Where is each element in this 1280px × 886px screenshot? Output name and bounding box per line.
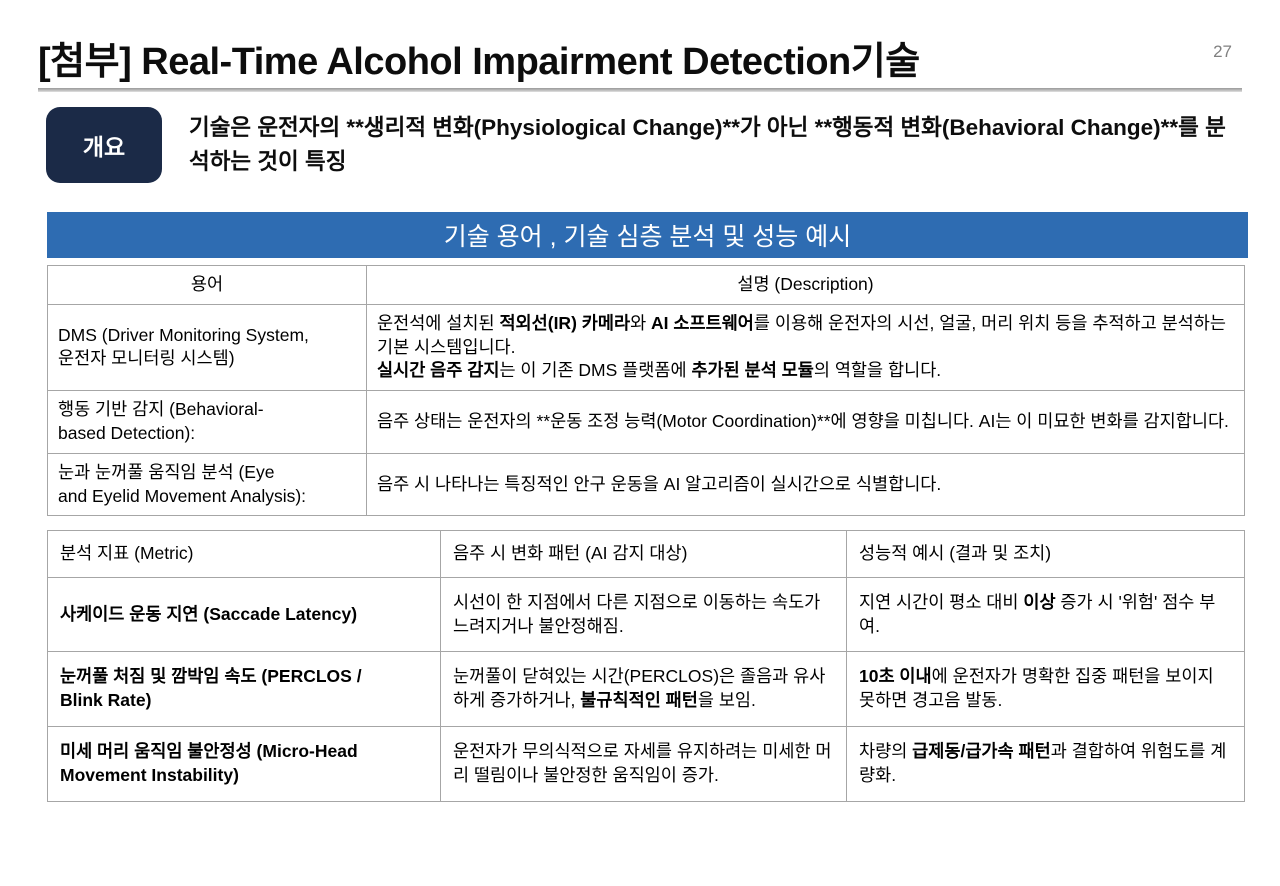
- metric-cell: 미세 머리 움직임 불안정성 (Micro-Head Movement Inst…: [48, 726, 441, 801]
- column-header-example: 성능적 예시 (결과 및 조치): [847, 531, 1245, 578]
- summary-text: 기술은 운전자의 **생리적 변화(Physiological Change)*…: [189, 107, 1246, 179]
- metric-cell: 사케이드 운동 지연 (Saccade Latency): [48, 577, 441, 652]
- text-run: 와: [630, 313, 651, 333]
- metric-label-line: 눈꺼풀 처짐 및 깜박임 속도 (PERCLOS /: [60, 665, 428, 689]
- page-number: 27: [1213, 42, 1232, 62]
- term-line: based Detection):: [58, 422, 356, 446]
- description-paragraph: 실시간 음주 감지는 이 기존 DMS 플랫폼에 추가된 분석 모듈의 역할을 …: [377, 359, 1234, 383]
- pattern-cell: 눈꺼풀이 닫혀있는 시간(PERCLOS)은 졸음과 유사하게 증가하거나, 불…: [441, 652, 847, 727]
- page-title: [첨부] Real-Time Alcohol Impairment Detect…: [38, 30, 920, 85]
- table-row: 행동 기반 감지 (Behavioral- based Detection): …: [48, 391, 1245, 454]
- text-run-bold: 추가된 분석 모듈: [691, 360, 813, 380]
- table-row: DMS (Driver Monitoring System, 운전자 모니터링 …: [48, 304, 1245, 390]
- table-header-row: 용어 설명 (Description): [48, 266, 1245, 305]
- text-run-bold: 실시간 음주 감지: [377, 360, 499, 380]
- text-run-bold: 10초 이내: [859, 666, 932, 686]
- table-row: 눈꺼풀 처짐 및 깜박임 속도 (PERCLOS / Blink Rate) 눈…: [48, 652, 1245, 727]
- description-cell: 음주 시 나타나는 특징적인 안구 운동을 AI 알고리즘이 실시간으로 식별합…: [367, 453, 1245, 516]
- metric-label-line: Movement Instability): [60, 764, 428, 788]
- column-header-description: 설명 (Description): [367, 266, 1245, 305]
- metric-label-line: 미세 머리 움직임 불안정성 (Micro-Head: [60, 740, 428, 764]
- column-header-metric: 분석 지표 (Metric): [48, 531, 441, 578]
- example-cell: 차량의 급제동/급가속 패턴과 결합하여 위험도를 계량화.: [847, 726, 1245, 801]
- term-line: and Eyelid Movement Analysis):: [58, 485, 356, 509]
- term-cell: DMS (Driver Monitoring System, 운전자 모니터링 …: [48, 304, 367, 390]
- term-line: 눈과 눈꺼풀 움직임 분석 (Eye: [58, 461, 356, 485]
- table-row: 미세 머리 움직임 불안정성 (Micro-Head Movement Inst…: [48, 726, 1245, 801]
- example-cell: 지연 시간이 평소 대비 이상 증가 시 '위험' 점수 부여.: [847, 577, 1245, 652]
- summary-section: 개요 기술은 운전자의 **생리적 변화(Physiological Chang…: [46, 107, 1246, 183]
- pattern-cell: 시선이 한 지점에서 다른 지점으로 이동하는 속도가 느려지거나 불안정해짐.: [441, 577, 847, 652]
- description-cell: 음주 상태는 운전자의 **운동 조정 능력(Motor Coordinatio…: [367, 391, 1245, 454]
- table-row: 눈과 눈꺼풀 움직임 분석 (Eye and Eyelid Movement A…: [48, 453, 1245, 516]
- description-paragraph: 운전석에 설치된 적외선(IR) 카메라와 AI 소프트웨어를 이용해 운전자의…: [377, 312, 1234, 360]
- text-run-bold: 불규칙적인 패턴: [580, 690, 698, 710]
- text-run: 차량의: [859, 741, 912, 761]
- text-run: 운전석에 설치된: [377, 313, 499, 333]
- text-run: 을 보임.: [698, 690, 756, 710]
- text-run-bold: AI 소프트웨어: [651, 313, 754, 333]
- metric-label-line: Blink Rate): [60, 689, 428, 713]
- term-cell: 눈과 눈꺼풀 움직임 분석 (Eye and Eyelid Movement A…: [48, 453, 367, 516]
- terms-table: 용어 설명 (Description) DMS (Driver Monitori…: [47, 265, 1245, 516]
- pattern-cell: 운전자가 무의식적으로 자세를 유지하려는 미세한 머리 떨림이나 불안정한 움…: [441, 726, 847, 801]
- metrics-table: 분석 지표 (Metric) 음주 시 변화 패턴 (AI 감지 대상) 성능적…: [47, 530, 1245, 802]
- title-divider: [38, 88, 1242, 92]
- text-run-bold: 급제동/급가속 패턴: [912, 741, 1051, 761]
- summary-badge: 개요: [46, 107, 162, 183]
- text-run: 는 이 기존 DMS 플랫폼에: [499, 360, 691, 380]
- text-run: 의 역할을 합니다.: [814, 360, 941, 380]
- term-cell: 행동 기반 감지 (Behavioral- based Detection):: [48, 391, 367, 454]
- metric-cell: 눈꺼풀 처짐 및 깜박임 속도 (PERCLOS / Blink Rate): [48, 652, 441, 727]
- text-run-bold: 적외선(IR) 카메라: [499, 313, 630, 333]
- table-row: 사케이드 운동 지연 (Saccade Latency) 시선이 한 지점에서 …: [48, 577, 1245, 652]
- metric-label: 사케이드 운동 지연 (Saccade Latency): [60, 604, 357, 624]
- description-cell: 운전석에 설치된 적외선(IR) 카메라와 AI 소프트웨어를 이용해 운전자의…: [367, 304, 1245, 390]
- column-header-term: 용어: [48, 266, 367, 305]
- term-line: DMS (Driver Monitoring System,: [58, 324, 356, 348]
- example-cell: 10초 이내에 운전자가 명확한 집중 패턴을 보이지 못하면 경고음 발동.: [847, 652, 1245, 727]
- term-line: 운전자 모니터링 시스템): [58, 347, 356, 371]
- section-banner: 기술 용어 , 기술 심층 분석 및 성능 예시: [47, 212, 1248, 258]
- column-header-pattern: 음주 시 변화 패턴 (AI 감지 대상): [441, 531, 847, 578]
- text-run: 지연 시간이 평소 대비: [859, 592, 1023, 612]
- text-run-bold: 이상: [1023, 592, 1055, 612]
- term-line: 행동 기반 감지 (Behavioral-: [58, 398, 356, 422]
- table-header-row: 분석 지표 (Metric) 음주 시 변화 패턴 (AI 감지 대상) 성능적…: [48, 531, 1245, 578]
